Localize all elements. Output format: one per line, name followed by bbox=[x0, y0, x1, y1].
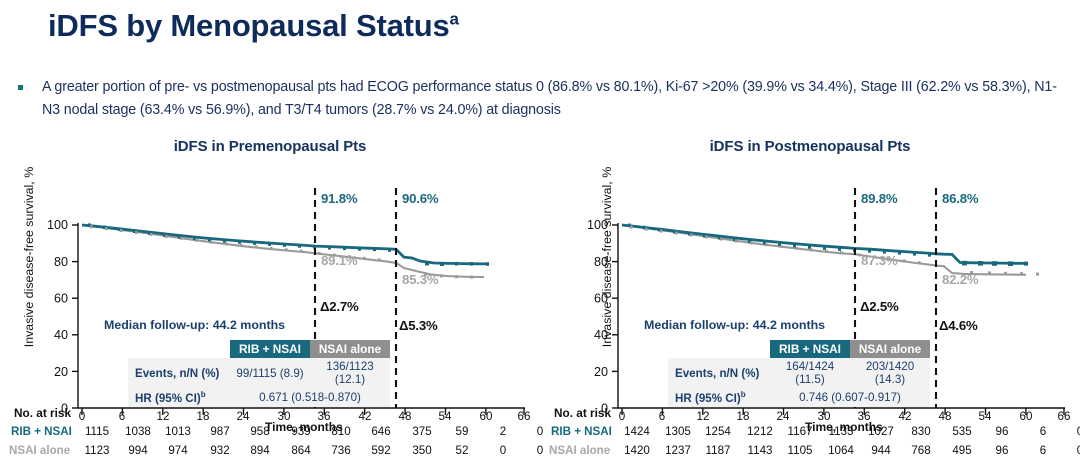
left-annot-teal-36: 91.8% bbox=[321, 191, 357, 206]
right-annot-teal-36: 89.8% bbox=[861, 191, 897, 206]
bullet-marker-icon bbox=[18, 85, 23, 90]
svg-text:100: 100 bbox=[587, 218, 608, 232]
at-risk-nsai-9: 96 bbox=[985, 444, 1019, 457]
right-annot-gray-48: 82.2% bbox=[942, 272, 978, 287]
at-risk-rib-5: 1133 bbox=[824, 425, 858, 438]
at-risk-rib-6: 1027 bbox=[864, 425, 898, 438]
at-risk-label-rib-left: RIB + NSAI bbox=[11, 425, 72, 438]
at-risk-nsai-1: 994 bbox=[121, 444, 155, 457]
page-title-text: iDFS by Menopausal Status bbox=[48, 8, 450, 43]
page-title: iDFS by Menopausal Statusa bbox=[48, 8, 459, 44]
left-events-nsai: 136/1123 (12.1) bbox=[310, 358, 390, 388]
svg-text:40: 40 bbox=[54, 328, 68, 342]
at-risk-nsai-8: 495 bbox=[945, 444, 979, 457]
at-risk-nsai-0: 1420 bbox=[620, 444, 654, 457]
table-row-hr: HR (95% CI)b 0.671 (0.518-0.870) bbox=[128, 388, 390, 407]
at-risk-title-right: No. at risk bbox=[554, 406, 611, 420]
at-risk-rib-3: 1212 bbox=[743, 425, 777, 438]
postmenopausal-chart-title: iDFS in Postmenopausal Pts bbox=[540, 138, 1080, 155]
left-delta-48: Δ5.3% bbox=[399, 318, 438, 333]
at-risk-nsai-7: 768 bbox=[904, 444, 938, 457]
at-risk-rib-11: 0 bbox=[1063, 425, 1080, 438]
premenopausal-plot-area: Invasive disease-free survival, % 100 80… bbox=[0, 170, 540, 420]
row-label-events: Events, n/N (%) bbox=[128, 358, 230, 388]
table-header-row: RIB + NSAI NSAI alone bbox=[668, 340, 930, 358]
at-risk-label-nsai-left: NSAI alone bbox=[9, 444, 70, 457]
at-risk-rib-0: 1424 bbox=[620, 425, 654, 438]
at-risk-nsai-9: 52 bbox=[445, 444, 479, 457]
at-risk-title-left: No. at risk bbox=[14, 406, 71, 420]
left-hazard-ratio: 0.671 (0.518-0.870) bbox=[230, 388, 390, 407]
at-risk-nsai-10: 6 bbox=[1026, 444, 1060, 457]
right-annot-teal-48: 86.8% bbox=[942, 191, 978, 206]
bullet-item-text: A greater portion of pre- vs postmenopau… bbox=[42, 76, 1073, 122]
at-risk-nsai-10: 0 bbox=[486, 444, 520, 457]
at-risk-rib-7: 830 bbox=[904, 425, 938, 438]
at-risk-rib-5: 939 bbox=[284, 425, 318, 438]
at-risk-nsai-4: 1105 bbox=[783, 444, 817, 457]
at-risk-nsai-1: 1237 bbox=[661, 444, 695, 457]
left-events-rib: 99/1115 (8.9) bbox=[230, 358, 310, 388]
svg-text:20: 20 bbox=[54, 365, 68, 379]
premenopausal-chart-panel: iDFS in Premenopausal Pts Invasive disea… bbox=[0, 138, 540, 476]
at-risk-rib-1: 1038 bbox=[121, 425, 155, 438]
at-risk-nsai-2: 974 bbox=[161, 444, 195, 457]
left-annot-gray-36: 89.1% bbox=[321, 253, 357, 268]
header-blank bbox=[668, 340, 770, 358]
at-risk-nsai-3: 932 bbox=[203, 444, 237, 457]
svg-text:20: 20 bbox=[594, 365, 608, 379]
table-header-row: RIB + NSAI NSAI alone bbox=[128, 340, 390, 358]
header-rib-nsai: RIB + NSAI bbox=[770, 340, 850, 358]
at-risk-rib-1: 1305 bbox=[661, 425, 695, 438]
left-annot-gray-48: 85.3% bbox=[402, 272, 438, 287]
left-stats-table: RIB + NSAI NSAI alone Events, n/N (%) 99… bbox=[128, 340, 390, 407]
at-risk-rib-7: 646 bbox=[364, 425, 398, 438]
at-risk-nsai-7: 592 bbox=[364, 444, 398, 457]
left-delta-36: Δ2.7% bbox=[320, 299, 359, 314]
at-risk-nsai-3: 1143 bbox=[743, 444, 777, 457]
at-risk-rib-3: 987 bbox=[203, 425, 237, 438]
table-row-events: Events, n/N (%) 99/1115 (8.9) 136/1123 (… bbox=[128, 358, 390, 388]
right-delta-48: Δ4.6% bbox=[939, 318, 978, 333]
svg-text:60: 60 bbox=[54, 292, 68, 306]
left-annot-teal-48: 90.6% bbox=[402, 191, 438, 206]
svg-text:40: 40 bbox=[594, 328, 608, 342]
at-risk-rib-4: 958 bbox=[243, 425, 277, 438]
left-median-followup-note: Median follow-up: 44.2 months bbox=[104, 318, 285, 332]
header-nsai-alone: NSAI alone bbox=[850, 340, 930, 358]
svg-text:80: 80 bbox=[54, 255, 68, 269]
at-risk-rib-9: 59 bbox=[445, 425, 479, 438]
at-risk-rib-2: 1254 bbox=[701, 425, 735, 438]
at-risk-rib-6: 810 bbox=[324, 425, 358, 438]
at-risk-rib-4: 1167 bbox=[783, 425, 817, 438]
at-risk-nsai-2: 1187 bbox=[701, 444, 735, 457]
right-delta-36: Δ2.5% bbox=[860, 299, 899, 314]
right-hazard-ratio: 0.746 (0.607-0.917) bbox=[770, 388, 930, 407]
at-risk-nsai-6: 736 bbox=[324, 444, 358, 457]
table-row-hr: HR (95% CI)b 0.746 (0.607-0.917) bbox=[668, 388, 930, 407]
at-risk-rib-8: 535 bbox=[945, 425, 979, 438]
at-risk-rib-9: 96 bbox=[985, 425, 1019, 438]
at-risk-nsai-11: 0 bbox=[1063, 444, 1080, 457]
at-risk-label-rib-right: RIB + NSAI bbox=[551, 425, 612, 438]
row-label-hr: HR (95% CI)b bbox=[668, 388, 770, 407]
at-risk-nsai-5: 864 bbox=[284, 444, 318, 457]
svg-text:60: 60 bbox=[594, 292, 608, 306]
row-label-hr: HR (95% CI)b bbox=[128, 388, 230, 407]
at-risk-rib-10: 6 bbox=[1026, 425, 1060, 438]
at-risk-rib-0: 1115 bbox=[80, 425, 114, 438]
postmenopausal-chart-panel: iDFS in Postmenopausal Pts Invasive dise… bbox=[540, 138, 1080, 476]
svg-text:80: 80 bbox=[594, 255, 608, 269]
at-risk-nsai-6: 944 bbox=[864, 444, 898, 457]
header-blank bbox=[128, 340, 230, 358]
right-median-followup-note: Median follow-up: 44.2 months bbox=[644, 318, 825, 332]
table-row-events: Events, n/N (%) 164/1424 (11.5) 203/1420… bbox=[668, 358, 930, 388]
header-rib-nsai: RIB + NSAI bbox=[230, 340, 310, 358]
right-events-nsai: 203/1420 (14.3) bbox=[850, 358, 930, 388]
at-risk-nsai-8: 350 bbox=[405, 444, 439, 457]
at-risk-nsai-4: 894 bbox=[243, 444, 277, 457]
page-title-superscript: a bbox=[450, 10, 459, 29]
at-risk-label-nsai-right: NSAI alone bbox=[549, 444, 610, 457]
right-stats-table: RIB + NSAI NSAI alone Events, n/N (%) 16… bbox=[668, 340, 930, 407]
right-annot-gray-36: 87.3% bbox=[861, 253, 897, 268]
at-risk-nsai-0: 1123 bbox=[80, 444, 114, 457]
header-nsai-alone: NSAI alone bbox=[310, 340, 390, 358]
at-risk-rib-10: 2 bbox=[486, 425, 520, 438]
svg-text:100: 100 bbox=[47, 218, 68, 232]
row-label-events: Events, n/N (%) bbox=[668, 358, 770, 388]
at-risk-nsai-5: 1064 bbox=[824, 444, 858, 457]
premenopausal-chart-title: iDFS in Premenopausal Pts bbox=[0, 138, 540, 155]
right-events-rib: 164/1424 (11.5) bbox=[770, 358, 850, 388]
postmenopausal-plot-area: Invasive disease-free survival, % 100 80… bbox=[540, 170, 1080, 420]
bullet-list-item: A greater portion of pre- vs postmenopau… bbox=[18, 76, 1073, 122]
at-risk-rib-2: 1013 bbox=[161, 425, 195, 438]
at-risk-rib-8: 375 bbox=[405, 425, 439, 438]
